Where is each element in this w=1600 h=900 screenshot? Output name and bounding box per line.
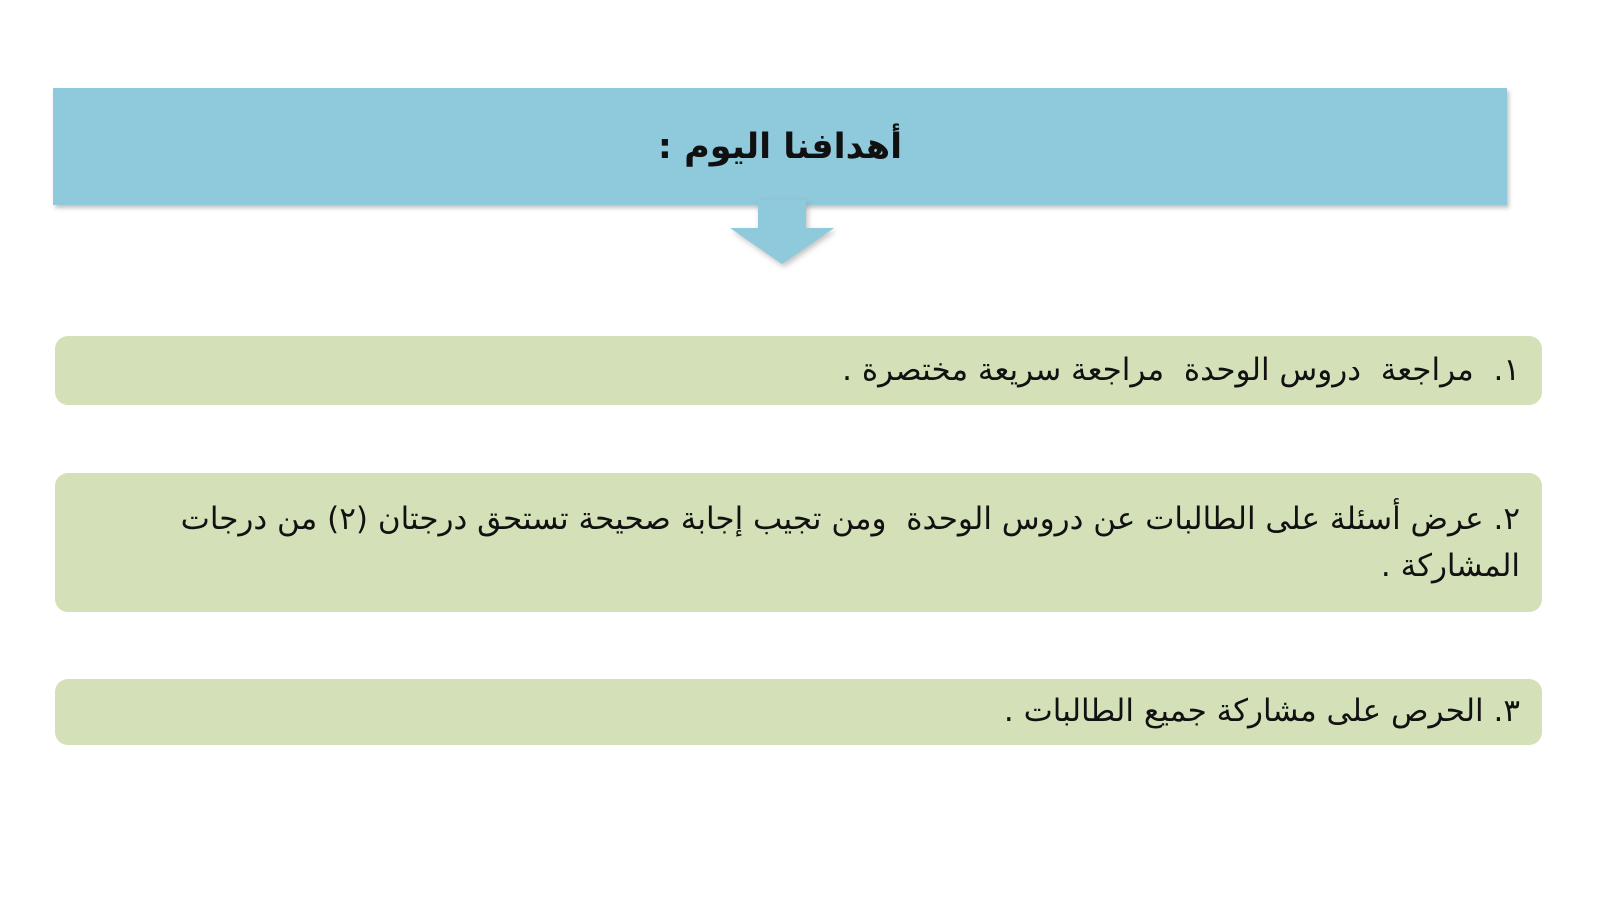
- goal-item-1: ١. مراجعة دروس الوحدة مراجعة سريعة مختصر…: [55, 336, 1542, 405]
- down-arrow-icon: [712, 200, 852, 266]
- goal-item-1-text: ١. مراجعة دروس الوحدة مراجعة سريعة مختصر…: [77, 350, 1520, 392]
- goal-item-2: ٢. عرض أسئلة على الطالبات عن دروس الوحدة…: [55, 473, 1542, 612]
- goal-item-3: ٣. الحرص على مشاركة جميع الطالبات .: [55, 679, 1542, 745]
- header-banner-group: أهدافنا اليوم :: [53, 88, 1507, 268]
- goal-item-2-text: ٢. عرض أسئلة على الطالبات عن دروس الوحدة…: [77, 496, 1520, 589]
- goal-item-3-text: ٣. الحرص على مشاركة جميع الطالبات .: [77, 691, 1520, 733]
- page-title: أهدافنا اليوم :: [53, 88, 1507, 205]
- slide-canvas: أهدافنا اليوم : ١. مراجعة دروس الوحدة مر…: [0, 0, 1600, 900]
